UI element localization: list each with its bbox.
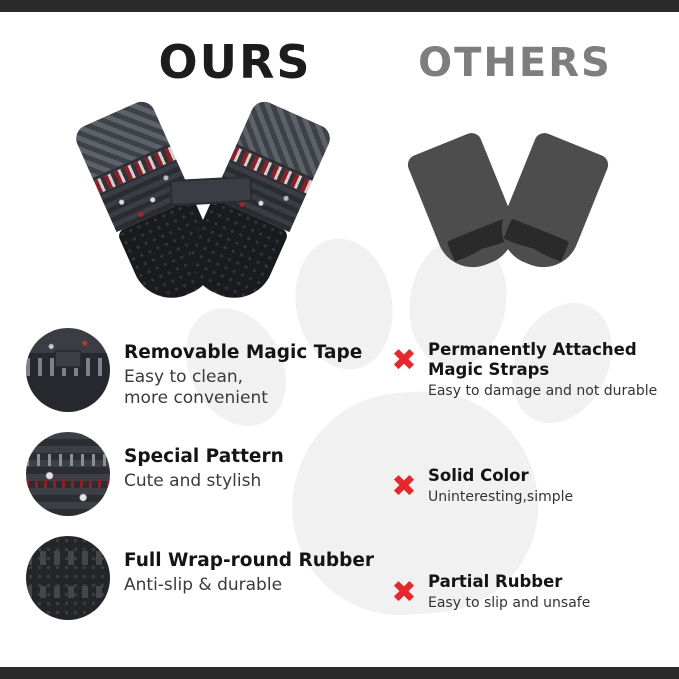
comparison-infographic: OURS OTHERS	[0, 0, 679, 679]
ours-feature-list: Removable Magic Tape Easy to clean, more…	[26, 328, 418, 640]
ours-feature-text: Special Pattern Cute and stylish	[124, 446, 424, 492]
red-x-icon: ✖	[390, 580, 418, 608]
others-feature-title: Partial Rubber	[428, 572, 670, 592]
ours-feature-subtitle: Cute and stylish	[124, 471, 424, 491]
others-feature-row: ✖ Partial Rubber Easy to slip and unsafe	[390, 572, 670, 644]
red-x-icon: ✖	[390, 474, 418, 502]
ours-feature-title: Full Wrap-round Rubber	[124, 550, 424, 571]
full-rubber-sole-thumbnail	[26, 536, 110, 620]
ours-feature-row: Special Pattern Cute and stylish	[26, 432, 418, 536]
others-feature-row: ✖ Permanently Attached Magic Straps Easy…	[390, 340, 670, 432]
others-feature-subtitle: Easy to damage and not durable	[428, 383, 670, 399]
tape-patch-shape	[54, 350, 82, 368]
others-feature-text: Solid Color Uninteresting,simple	[428, 466, 670, 505]
others-feature-list: ✖ Permanently Attached Magic Straps Easy…	[390, 340, 670, 678]
heading-ours: OURS	[110, 35, 360, 89]
others-feature-row: ✖ Solid Color Uninteresting,simple	[390, 466, 670, 538]
heading-others: OTHERS	[390, 40, 640, 86]
removable-magic-tape-thumbnail	[26, 328, 110, 412]
others-feature-subtitle: Easy to slip and unsafe	[428, 595, 670, 611]
others-sock-left	[405, 130, 525, 278]
ours-feature-title: Special Pattern	[124, 446, 424, 467]
red-x-icon: ✖	[390, 348, 418, 376]
others-feature-title: Permanently Attached Magic Straps	[428, 340, 670, 380]
ours-feature-title: Removable Magic Tape	[124, 342, 424, 363]
ours-feature-row: Full Wrap-round Rubber Anti-slip & durab…	[26, 536, 418, 640]
others-feature-text: Permanently Attached Magic Straps Easy t…	[428, 340, 670, 399]
others-sock-right	[491, 130, 611, 278]
special-pattern-thumbnail	[26, 432, 110, 516]
ours-feature-text: Full Wrap-round Rubber Anti-slip & durab…	[124, 550, 424, 596]
others-feature-title: Solid Color	[428, 466, 670, 486]
magic-tape-strap	[169, 176, 252, 206]
others-feature-text: Partial Rubber Easy to slip and unsafe	[428, 572, 670, 611]
hero-image-others	[420, 130, 600, 290]
ours-feature-row: Removable Magic Tape Easy to clean, more…	[26, 328, 418, 432]
others-feature-subtitle: Uninteresting,simple	[428, 489, 670, 505]
ours-feature-subtitle: Anti-slip & durable	[124, 575, 424, 595]
ours-feature-text: Removable Magic Tape Easy to clean, more…	[124, 342, 424, 408]
hero-image-ours	[96, 100, 326, 310]
ours-feature-subtitle: Easy to clean, more convenient	[124, 367, 424, 408]
